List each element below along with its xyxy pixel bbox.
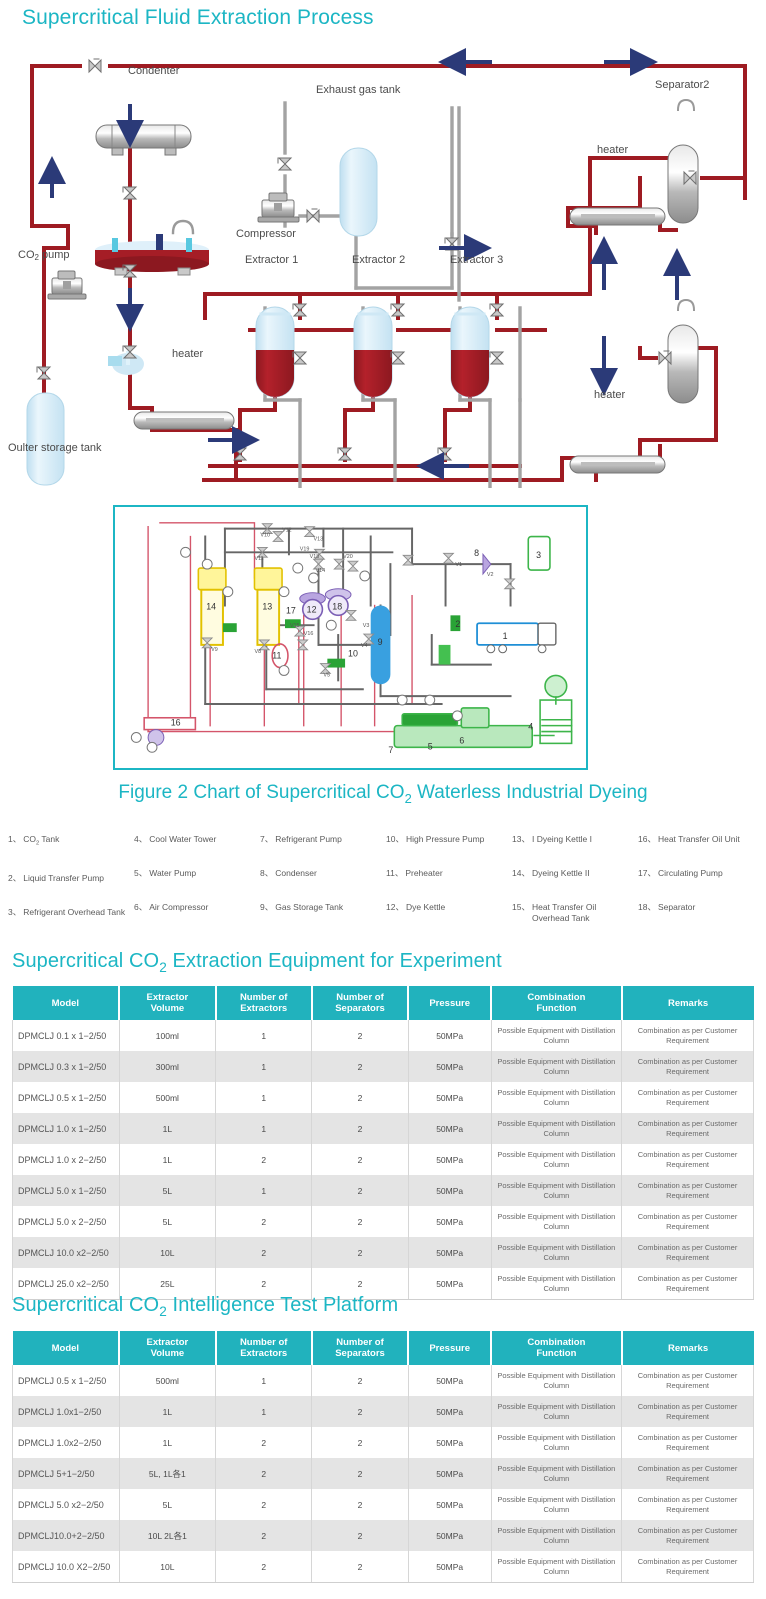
col-model: Model bbox=[13, 1331, 120, 1365]
svg-text:5: 5 bbox=[428, 741, 433, 751]
cell-model: DPMCLJ 1.0 x 2−2/50 bbox=[13, 1144, 120, 1175]
col-model: Model bbox=[13, 986, 120, 1020]
cell-combination: Possible Equipment with Distillation Col… bbox=[491, 1144, 621, 1175]
table-row: DPMCLJ 0.3 x 1−2/50 300ml 1 2 50MPa Poss… bbox=[13, 1051, 754, 1082]
cell-pressure: 50MPa bbox=[408, 1113, 491, 1144]
cell-separators: 2 bbox=[312, 1551, 408, 1583]
cell-volume: 1L bbox=[119, 1427, 215, 1458]
waterless-dyeing-chart: 1 2 3 4 5 6 7 8 9 10 11 12 13 14 16 17 1… bbox=[113, 505, 588, 770]
cell-pressure: 50MPa bbox=[408, 1365, 491, 1396]
label-co2-pump: CO2 pump bbox=[18, 249, 70, 262]
cell-separators: 2 bbox=[312, 1144, 408, 1175]
table-row: DPMCLJ 5.0 x 1−2/50 5L 1 2 50MPa Possibl… bbox=[13, 1175, 754, 1206]
cell-separators: 2 bbox=[312, 1082, 408, 1113]
cell-remarks: Combination as per Customer Requirement bbox=[622, 1427, 754, 1458]
cell-extractors: 2 bbox=[216, 1551, 312, 1583]
cell-model: DPMCLJ 0.5 x 1−2/50 bbox=[13, 1365, 120, 1396]
compressor-unit bbox=[258, 193, 299, 222]
label-heater-right-upper: heater bbox=[597, 144, 629, 156]
svg-text:4: 4 bbox=[528, 722, 533, 732]
col-number-of-separators: Number ofSeparators bbox=[312, 986, 408, 1020]
section-title-platform: Supercritical CO2 Intelligence Test Plat… bbox=[12, 1292, 398, 1325]
cell-separators: 2 bbox=[312, 1113, 408, 1144]
cell-extractors: 2 bbox=[216, 1489, 312, 1520]
compressor-cooling-section bbox=[394, 675, 571, 747]
heater-right-upper bbox=[570, 208, 665, 225]
cell-pressure: 50MPa bbox=[408, 1268, 491, 1300]
col-number-of-extractors: Number ofExtractors bbox=[216, 1331, 312, 1365]
legend-item: 11、 Preheater bbox=[386, 868, 508, 879]
svg-text:2: 2 bbox=[455, 619, 460, 629]
cell-model: DPMCLJ 0.5 x 1−2/50 bbox=[13, 1082, 120, 1113]
cell-extractors: 1 bbox=[216, 1113, 312, 1144]
table-row: DPMCLJ 10.0 X2−2/50 10L 2 2 50MPa Possib… bbox=[13, 1551, 754, 1583]
svg-text:16: 16 bbox=[171, 718, 181, 728]
cell-extractors: 2 bbox=[216, 1206, 312, 1237]
cell-model: DPMCLJ 1.0 x 1−2/50 bbox=[13, 1113, 120, 1144]
outer-storage-tank bbox=[27, 393, 64, 485]
col-pressure: Pressure bbox=[408, 986, 491, 1020]
label-outer-storage-tank: Oulter storage tank bbox=[8, 442, 102, 454]
legend-item: 2、 Liquid Transfer Pump bbox=[8, 873, 130, 884]
cell-pressure: 50MPa bbox=[408, 1051, 491, 1082]
svg-text:14: 14 bbox=[206, 601, 216, 611]
col-pressure: Pressure bbox=[408, 1331, 491, 1365]
legend-column-3: 7、 Refrigerant Pump 8、 Condenser 9、 Gas … bbox=[260, 830, 382, 924]
legend-item: 5、 Water Pump bbox=[134, 868, 256, 879]
cell-pressure: 50MPa bbox=[408, 1551, 491, 1583]
cell-separators: 2 bbox=[312, 1206, 408, 1237]
cell-model: DPMCLJ 5+1−2/50 bbox=[13, 1458, 120, 1489]
col-number-of-extractors: Number ofExtractors bbox=[216, 986, 312, 1020]
cell-volume: 1L bbox=[119, 1144, 215, 1175]
label-condenser: Condenter bbox=[128, 65, 180, 77]
svg-text:V3: V3 bbox=[363, 623, 370, 629]
equipment-legend: 1、 CO2 Tank 2、 Liquid Transfer Pump 3、 R… bbox=[8, 830, 760, 924]
heater-right-lower bbox=[570, 456, 665, 473]
svg-text:V11: V11 bbox=[254, 556, 263, 562]
legend-column-4: 10、 High Pressure Pump 11、 Preheater 12、… bbox=[386, 830, 508, 924]
cell-volume: 5L bbox=[119, 1175, 215, 1206]
small-blue-pump bbox=[108, 351, 144, 375]
cell-volume: 5L bbox=[119, 1206, 215, 1237]
cell-remarks: Combination as per Customer Requirement bbox=[622, 1082, 754, 1113]
label-separator2: Separator2 bbox=[655, 79, 709, 91]
co2-tank-truck-1 bbox=[477, 623, 556, 653]
cell-combination: Possible Equipment with Distillation Col… bbox=[491, 1082, 621, 1113]
cell-combination: Possible Equipment with Distillation Col… bbox=[491, 1175, 621, 1206]
cell-model: DPMCLJ 0.3 x 1−2/50 bbox=[13, 1051, 120, 1082]
svg-text:V19: V19 bbox=[300, 546, 310, 552]
svg-text:V18: V18 bbox=[310, 554, 320, 560]
legend-item: 9、 Gas Storage Tank bbox=[260, 902, 382, 913]
cell-volume: 1L bbox=[119, 1113, 215, 1144]
cell-model: DPMCLJ 10.0 x2−2/50 bbox=[13, 1237, 120, 1268]
cell-model: DPMCLJ 5.0 x2−2/50 bbox=[13, 1489, 120, 1520]
cell-extractors: 1 bbox=[216, 1082, 312, 1113]
svg-text:V20: V20 bbox=[343, 554, 353, 560]
equipment-table-body: DPMCLJ 0.1 x 1−2/50 100ml 1 2 50MPa Poss… bbox=[13, 1020, 754, 1300]
cell-remarks: Combination as per Customer Requirement bbox=[622, 1113, 754, 1144]
label-extractor-2: Extractor 2 bbox=[352, 254, 405, 266]
cell-remarks: Combination as per Customer Requirement bbox=[622, 1520, 754, 1551]
cell-volume: 10L 2L各1 bbox=[119, 1520, 215, 1551]
legend-item: 13、 I Dyeing Kettle I bbox=[512, 834, 634, 845]
page-root: Supercritical Fluid Extraction Process bbox=[0, 0, 766, 1599]
cell-pressure: 50MPa bbox=[408, 1082, 491, 1113]
cell-extractors: 2 bbox=[216, 1520, 312, 1551]
table-row: DPMCLJ 5+1−2/50 5L, 1L各1 2 2 50MPa Possi… bbox=[13, 1458, 754, 1489]
cell-separators: 2 bbox=[312, 1365, 408, 1396]
cell-remarks: Combination as per Customer Requirement bbox=[622, 1396, 754, 1427]
table-row: DPMCLJ 5.0 x 2−2/50 5L 2 2 50MPa Possibl… bbox=[13, 1206, 754, 1237]
legend-item: 18、 Separator bbox=[638, 902, 760, 913]
svg-text:V13: V13 bbox=[314, 536, 324, 542]
svg-text:9: 9 bbox=[378, 637, 383, 647]
svg-text:12: 12 bbox=[307, 604, 317, 614]
svg-text:13: 13 bbox=[262, 601, 272, 611]
cell-pressure: 50MPa bbox=[408, 1020, 491, 1051]
cell-extractors: 1 bbox=[216, 1175, 312, 1206]
label-heater-left: heater bbox=[172, 348, 204, 360]
cell-pressure: 50MPa bbox=[408, 1489, 491, 1520]
cell-separators: 2 bbox=[312, 1427, 408, 1458]
svg-text:V4: V4 bbox=[361, 643, 368, 649]
cell-volume: 300ml bbox=[119, 1051, 215, 1082]
col-remarks: Remarks bbox=[622, 1331, 754, 1365]
flash-tray-unit bbox=[95, 221, 209, 275]
cell-extractors: 2 bbox=[216, 1237, 312, 1268]
process-flow-diagram: Condenter Exhaust gas tank Compressor Se… bbox=[0, 48, 766, 488]
page-title: Supercritical Fluid Extraction Process bbox=[22, 4, 374, 32]
svg-text:V8: V8 bbox=[254, 649, 261, 655]
table-row: DPMCLJ 1.0 x 1−2/50 1L 1 2 50MPa Possibl… bbox=[13, 1113, 754, 1144]
cell-pressure: 50MPa bbox=[408, 1458, 491, 1489]
svg-text:V14: V14 bbox=[316, 568, 326, 574]
separator-lower-vessel bbox=[668, 300, 698, 403]
cell-separators: 2 bbox=[312, 1489, 408, 1520]
cell-volume: 500ml bbox=[119, 1365, 215, 1396]
svg-text:V9: V9 bbox=[211, 647, 218, 653]
cell-volume: 100ml bbox=[119, 1020, 215, 1051]
cell-model: DPMCLJ 5.0 x 2−2/50 bbox=[13, 1206, 120, 1237]
cell-model: DPMCLJ 5.0 x 1−2/50 bbox=[13, 1175, 120, 1206]
svg-text:1: 1 bbox=[503, 631, 508, 641]
extractor-2 bbox=[354, 307, 392, 397]
col-remarks: Remarks bbox=[622, 986, 754, 1020]
cell-separators: 2 bbox=[312, 1396, 408, 1427]
label-exhaust-gas-tank: Exhaust gas tank bbox=[316, 84, 401, 96]
cell-extractors: 1 bbox=[216, 1396, 312, 1427]
svg-text:8: 8 bbox=[474, 548, 479, 558]
cell-remarks: Combination as per Customer Requirement bbox=[622, 1051, 754, 1082]
legend-item-text: CO2 Tank bbox=[23, 834, 59, 850]
cell-remarks: Combination as per Customer Requirement bbox=[622, 1237, 754, 1268]
svg-text:V16: V16 bbox=[304, 631, 314, 637]
cell-remarks: Combination as per Customer Requirement bbox=[622, 1365, 754, 1396]
cell-pressure: 50MPa bbox=[408, 1175, 491, 1206]
cell-combination: Possible Equipment with Distillation Col… bbox=[491, 1365, 621, 1396]
cell-remarks: Combination as per Customer Requirement bbox=[622, 1458, 754, 1489]
table-row: DPMCLJ10.0+2−2/50 10L 2L各1 2 2 50MPa Pos… bbox=[13, 1520, 754, 1551]
cell-pressure: 50MPa bbox=[408, 1206, 491, 1237]
cell-model: DPMCLJ 0.1 x 1−2/50 bbox=[13, 1020, 120, 1051]
cell-combination: Possible Equipment with Distillation Col… bbox=[491, 1427, 621, 1458]
legend-item: 15、 Heat Transfer Oil Overhead Tank bbox=[512, 902, 634, 924]
cell-volume: 10L bbox=[119, 1551, 215, 1583]
cell-model: DPMCLJ 1.0x2−2/50 bbox=[13, 1427, 120, 1458]
svg-text:7: 7 bbox=[388, 745, 393, 755]
cell-extractors: 2 bbox=[216, 1427, 312, 1458]
table-row: DPMCLJ 10.0 x2−2/50 10L 2 2 50MPa Possib… bbox=[13, 1237, 754, 1268]
extractor-1 bbox=[256, 307, 294, 397]
col-extractor-volume: ExtractorVolume bbox=[119, 1331, 215, 1365]
cell-combination: Possible Equipment with Distillation Col… bbox=[491, 1489, 621, 1520]
legend-item: 17、 Circulating Pump bbox=[638, 868, 760, 879]
cell-remarks: Combination as per Customer Requirement bbox=[622, 1206, 754, 1237]
svg-text:17: 17 bbox=[286, 605, 296, 615]
separator-2-vessel bbox=[668, 100, 698, 223]
svg-text:V1: V1 bbox=[455, 562, 462, 568]
cell-combination: Possible Equipment with Distillation Col… bbox=[491, 1396, 621, 1427]
co2-pump bbox=[48, 271, 86, 299]
legend-item: 7、 Refrigerant Pump bbox=[260, 834, 382, 845]
cell-separators: 2 bbox=[312, 1175, 408, 1206]
svg-text:11: 11 bbox=[272, 651, 281, 661]
col-number-of-separators: Number ofSeparators bbox=[312, 1331, 408, 1365]
label-extractor-1: Extractor 1 bbox=[245, 254, 298, 266]
legend-item: 14、 Dyeing Kettle II bbox=[512, 868, 634, 879]
col-combination-function: CombinationFunction bbox=[491, 1331, 621, 1365]
svg-text:V12: V12 bbox=[282, 528, 292, 534]
cell-remarks: Combination as per Customer Requirement bbox=[622, 1175, 754, 1206]
condenser-vessel bbox=[96, 125, 191, 155]
process-piping bbox=[205, 529, 510, 704]
svg-text:10: 10 bbox=[348, 649, 358, 659]
legend-column-2: 4、 Cool Water Tower 5、 Water Pump 6、 Air… bbox=[134, 830, 256, 924]
table-row: DPMCLJ 0.1 x 1−2/50 100ml 1 2 50MPa Poss… bbox=[13, 1020, 754, 1051]
cell-pressure: 50MPa bbox=[408, 1396, 491, 1427]
cell-pressure: 50MPa bbox=[408, 1520, 491, 1551]
cell-extractors: 1 bbox=[216, 1365, 312, 1396]
svg-text:6: 6 bbox=[459, 735, 464, 745]
equipment-spec-table: Model ExtractorVolume Number ofExtractor… bbox=[12, 986, 754, 1300]
svg-text:18: 18 bbox=[332, 601, 342, 611]
svg-text:V10: V10 bbox=[260, 533, 270, 539]
svg-text:V2: V2 bbox=[487, 572, 494, 578]
platform-table-body: DPMCLJ 0.5 x 1−2/50 500ml 1 2 50MPa Poss… bbox=[13, 1365, 754, 1583]
valve-symbols bbox=[202, 524, 514, 674]
cell-combination: Possible Equipment with Distillation Col… bbox=[491, 1268, 621, 1300]
table-row: DPMCLJ 5.0 x2−2/50 5L 2 2 50MPa Possible… bbox=[13, 1489, 754, 1520]
cell-separators: 2 bbox=[312, 1458, 408, 1489]
legend-column-6: 16、 Heat Transfer Oil Unit 17、 Circulati… bbox=[638, 830, 760, 924]
heater-left bbox=[134, 412, 234, 429]
exhaust-gas-tank bbox=[340, 148, 377, 236]
table-row: DPMCLJ 1.0x2−2/50 1L 2 2 50MPa Possible … bbox=[13, 1427, 754, 1458]
cell-pressure: 50MPa bbox=[408, 1237, 491, 1268]
legend-item: 16、 Heat Transfer Oil Unit bbox=[638, 834, 760, 845]
green-block-10 bbox=[327, 659, 345, 668]
cell-volume: 5L bbox=[119, 1489, 215, 1520]
cell-combination: Possible Equipment with Distillation Col… bbox=[491, 1051, 621, 1082]
cell-volume: 5L, 1L各1 bbox=[119, 1458, 215, 1489]
legend-item: 10、 High Pressure Pump bbox=[386, 834, 508, 845]
table-row: DPMCLJ 0.5 x 1−2/50 500ml 1 2 50MPa Poss… bbox=[13, 1082, 754, 1113]
svg-text:V5: V5 bbox=[323, 672, 330, 678]
svg-text:V15: V15 bbox=[290, 623, 300, 629]
table-header-row: Model ExtractorVolume Number ofExtractor… bbox=[13, 986, 754, 1020]
cell-extractors: 2 bbox=[216, 1458, 312, 1489]
cell-separators: 2 bbox=[312, 1051, 408, 1082]
cell-combination: Possible Equipment with Distillation Col… bbox=[491, 1020, 621, 1051]
cell-extractors: 1 bbox=[216, 1051, 312, 1082]
label-extractor-3: Extractor 3 bbox=[450, 254, 503, 266]
cell-pressure: 50MPa bbox=[408, 1144, 491, 1175]
legend-column-5: 13、 I Dyeing Kettle I 14、 Dyeing Kettle … bbox=[512, 830, 634, 924]
legend-item: 12、 Dye Kettle bbox=[386, 902, 508, 913]
table-header-row: Model ExtractorVolume Number ofExtractor… bbox=[13, 1331, 754, 1365]
cell-volume: 500ml bbox=[119, 1082, 215, 1113]
cell-model: DPMCLJ 10.0 X2−2/50 bbox=[13, 1551, 120, 1583]
label-compressor: Compressor bbox=[236, 228, 296, 240]
cell-remarks: Combination as per Customer Requirement bbox=[622, 1551, 754, 1583]
label-heater-right-lower: heater bbox=[594, 389, 626, 401]
col-extractor-volume: ExtractorVolume bbox=[119, 986, 215, 1020]
svg-text:3: 3 bbox=[536, 550, 541, 560]
cell-separators: 2 bbox=[312, 1520, 408, 1551]
legend-item: 1、 CO2 Tank bbox=[8, 834, 130, 850]
legend-item: 3、 Refrigerant Overhead Tank bbox=[8, 907, 130, 918]
cell-volume: 1L bbox=[119, 1396, 215, 1427]
legend-item: 4、 Cool Water Tower bbox=[134, 834, 256, 845]
cell-model: DPMCLJ 1.0x1−2/50 bbox=[13, 1396, 120, 1427]
cell-remarks: Combination as per Customer Requirement bbox=[622, 1144, 754, 1175]
cell-volume: 10L bbox=[119, 1237, 215, 1268]
cell-combination: Possible Equipment with Distillation Col… bbox=[491, 1520, 621, 1551]
extractor-3 bbox=[451, 307, 489, 397]
col-combination-function: CombinationFunction bbox=[491, 986, 621, 1020]
cell-remarks: Combination as per Customer Requirement bbox=[622, 1268, 754, 1300]
cell-remarks: Combination as per Customer Requirement bbox=[622, 1020, 754, 1051]
legend-column-1: 1、 CO2 Tank 2、 Liquid Transfer Pump 3、 R… bbox=[8, 830, 130, 924]
figure-2-caption: Figure 2 Chart of Supercritical CO2 Wate… bbox=[0, 780, 766, 812]
cell-combination: Possible Equipment with Distillation Col… bbox=[491, 1551, 621, 1583]
cell-model: DPMCLJ10.0+2−2/50 bbox=[13, 1520, 120, 1551]
cell-extractors: 2 bbox=[216, 1144, 312, 1175]
cell-combination: Possible Equipment with Distillation Col… bbox=[491, 1206, 621, 1237]
cell-combination: Possible Equipment with Distillation Col… bbox=[491, 1458, 621, 1489]
cell-combination: Possible Equipment with Distillation Col… bbox=[491, 1113, 621, 1144]
platform-spec-table: Model ExtractorVolume Number ofExtractor… bbox=[12, 1331, 754, 1583]
legend-item: 8、 Condenser bbox=[260, 868, 382, 879]
cell-separators: 2 bbox=[312, 1237, 408, 1268]
legend-item: 6、 Air Compressor bbox=[134, 902, 256, 913]
cell-remarks: Combination as per Customer Requirement bbox=[622, 1489, 754, 1520]
cell-extractors: 1 bbox=[216, 1020, 312, 1051]
table-row: DPMCLJ 0.5 x 1−2/50 500ml 1 2 50MPa Poss… bbox=[13, 1365, 754, 1396]
table-row: DPMCLJ 1.0 x 2−2/50 1L 2 2 50MPa Possibl… bbox=[13, 1144, 754, 1175]
cell-combination: Possible Equipment with Distillation Col… bbox=[491, 1237, 621, 1268]
cell-pressure: 50MPa bbox=[408, 1427, 491, 1458]
section-title-equipment: Supercritical CO2 Extraction Equipment f… bbox=[12, 948, 502, 981]
cell-separators: 2 bbox=[312, 1020, 408, 1051]
table-row: DPMCLJ 1.0x1−2/50 1L 1 2 50MPa Possible … bbox=[13, 1396, 754, 1427]
